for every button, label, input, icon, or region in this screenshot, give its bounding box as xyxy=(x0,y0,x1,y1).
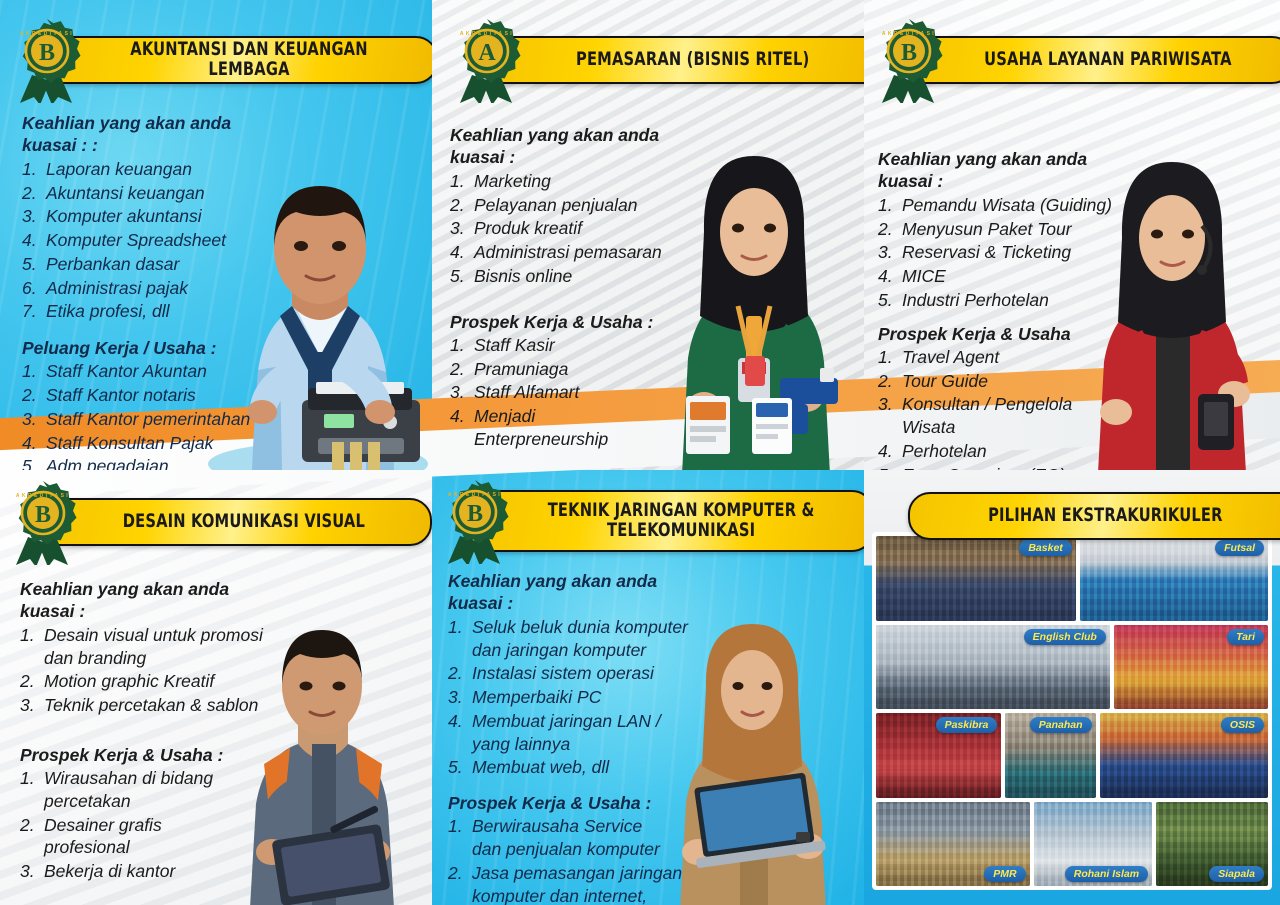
ekskul-label: Siapala xyxy=(1209,866,1264,882)
list-item: 2.Akuntansi keuangan xyxy=(22,182,272,205)
prospects-list: 1.Staff Kasir 2.Pramuniaga 3.Staff Alfam… xyxy=(450,334,690,451)
skills-heading: Keahlian yang akan anda kuasai : xyxy=(20,578,286,623)
accreditation-seal-icon: B AKREDITASI xyxy=(872,17,946,103)
list-item: 4.Komputer Spreadsheet xyxy=(22,229,272,252)
header-ekstrakurikuler: PILIHAN EKSTRAKURIKULER xyxy=(908,492,1280,540)
panel-title-tjkt: TEKNIK JARINGAN KOMPUTER & TELEKOMUNIKAS… xyxy=(468,490,864,552)
content-dkv: Keahlian yang akan anda kuasai : 1.Desai… xyxy=(20,578,286,884)
list-item: 3.Komputer akuntansi xyxy=(22,205,272,228)
ekskul-cell-rohani-islam[interactable]: Rohani Islam xyxy=(1034,802,1153,887)
prospects-list: 1.Wirausahan di bidang percetakan 2.Desa… xyxy=(20,767,286,883)
list-item: 5.Perbankan dasar xyxy=(22,253,272,276)
skills-heading: Keahlian yang akan anda kuasai : xyxy=(448,570,708,615)
list-item: 3.Konsultan / Pengelola Wisata xyxy=(878,393,1122,439)
skills-list: 1.Marketing 2.Pelayanan penjualan 3.Prod… xyxy=(450,170,690,288)
list-item: 3.Memperbaiki PC xyxy=(448,686,708,709)
seal-grade-letter: B xyxy=(39,40,55,66)
list-item: 2.Motion graphic Kreatif xyxy=(20,670,286,693)
list-item: 4.Staff Konsultan Pajak xyxy=(22,432,272,455)
ekskul-cell-pmr[interactable]: PMR xyxy=(876,802,1030,887)
content-tjkt: Keahlian yang akan anda kuasai : 1.Seluk… xyxy=(448,570,708,905)
header-akuntansi: B AKREDITASI AKUNTANSI DAN KEUANGAN LEMB… xyxy=(12,36,432,84)
list-item: 2.Pramuniaga xyxy=(450,358,690,381)
content-pariwisata: Keahlian yang akan anda kuasai : 1.Peman… xyxy=(878,148,1122,470)
panel-title-text: USAHA LAYANAN PARIWISATA xyxy=(984,50,1232,70)
ekskul-cell-panahan[interactable]: Panahan xyxy=(1005,713,1095,798)
prospects-list: 1.Staff Kantor Akuntan 2.Staff Kantor no… xyxy=(22,360,272,470)
list-item: 4.Administrasi pemasaran xyxy=(450,241,690,264)
prospects-list: 1.Berwirausaha Service dan penjualan kom… xyxy=(448,815,708,905)
panel-title-pemasaran: PEMASARAN (BISNIS RITEL) xyxy=(480,36,864,84)
panel-dkv: B AKREDITASI DESAIN KOMUNIKASI VISUAL Ke… xyxy=(0,470,432,905)
seal-grade-letter: B xyxy=(35,502,51,528)
skills-heading: Keahlian yang akan anda kuasai : xyxy=(450,124,690,169)
list-item: 2.Staff Kantor notaris xyxy=(22,384,272,407)
list-item: 5.Adm pegadaian xyxy=(22,455,272,470)
ekskul-cell-siapala[interactable]: Siapala xyxy=(1156,802,1268,887)
ekskul-cell-futsal[interactable]: Futsal xyxy=(1080,536,1268,621)
seal-ring-text: AKREDITASI xyxy=(882,31,936,37)
prospects-heading: Prospek Kerja & Usaha : xyxy=(20,744,286,766)
seal-ring-text: AKREDITASI xyxy=(20,31,74,37)
list-item: 2.Tour Guide xyxy=(878,370,1122,393)
ekskul-cell-paskibra[interactable]: Paskibra xyxy=(876,713,1001,798)
seal-ring-text: AKREDITASI xyxy=(16,493,70,499)
ekskul-label: Panahan xyxy=(1030,717,1092,733)
seal-ring-text: AKREDITASI xyxy=(448,492,502,498)
ekskul-row: English Club Tari xyxy=(876,625,1268,710)
list-item: 3.Staff Kantor pemerintahan xyxy=(22,408,272,431)
prospects-heading: Peluang Kerja / Usaha : xyxy=(22,337,272,359)
list-item: 2.Desainer grafis profesional xyxy=(20,814,286,860)
prospects-heading: Prospek Kerja & Usaha : xyxy=(448,792,708,814)
header-dkv: B AKREDITASI DESAIN KOMUNIKASI VISUAL xyxy=(8,498,432,546)
list-item: 3.Teknik percetakan & sablon xyxy=(20,694,286,717)
list-item: 4.Membuat jaringan LAN / yang lainnya xyxy=(448,710,708,756)
ekskul-label: PMR xyxy=(984,866,1025,882)
list-item: 3.Produk kreatif xyxy=(450,217,690,240)
list-item: 1.Laporan keuangan xyxy=(22,158,272,181)
list-item: 2.Menyusun Paket Tour xyxy=(878,218,1122,241)
seal-grade-letter: A xyxy=(478,40,496,66)
content-pemasaran: Keahlian yang akan anda kuasai : 1.Marke… xyxy=(450,124,690,452)
accreditation-seal-icon: A AKREDITASI xyxy=(450,17,524,103)
content-akuntansi: Keahlian yang akan anda kuasai : : 1.Lap… xyxy=(22,112,272,470)
skills-list: 1.Laporan keuangan 2.Akuntansi keuangan … xyxy=(22,158,272,323)
panel-title-text: AKUNTANSI DAN KEUANGAN LEMBAGA xyxy=(111,40,388,80)
header-tjkt: B AKREDITASI TEKNIK JARINGAN KOMPUTER & … xyxy=(440,490,864,552)
accreditation-seal-icon: B AKREDITASI xyxy=(10,17,84,103)
ekskul-row: Paskibra Panahan OSIS xyxy=(876,713,1268,798)
list-item: 1.Staff Kantor Akuntan xyxy=(22,360,272,383)
accreditation-seal-icon: B AKREDITASI xyxy=(438,478,512,564)
accreditation-seal-icon: B AKREDITASI xyxy=(6,479,80,565)
panel-title-akuntansi: AKUNTANSI DAN KEUANGAN LEMBAGA xyxy=(40,36,432,84)
list-item: 2.Instalasi sistem operasi xyxy=(448,662,708,685)
list-item: 5.Industri Perhotelan xyxy=(878,289,1122,312)
list-item: 2.Pelayanan penjualan xyxy=(450,194,690,217)
list-item: 1.Seluk beluk dunia komputer dan jaringa… xyxy=(448,616,708,662)
list-item: 1.Desain visual untuk promosi dan brandi… xyxy=(20,624,286,670)
skills-list: 1.Desain visual untuk promosi dan brandi… xyxy=(20,624,286,717)
prospects-heading: Prospek Kerja & Usaha : xyxy=(450,311,690,333)
seal-grade-letter: B xyxy=(467,501,483,527)
ekskul-photo-grid: Basket Futsal English Club Tari Paskibra xyxy=(872,532,1272,890)
list-item: 1.Wirausahan di bidang percetakan xyxy=(20,767,286,813)
ekskul-label: Rohani Islam xyxy=(1065,866,1148,882)
header-pariwisata: B AKREDITASI USAHA LAYANAN PARIWISATA xyxy=(874,36,1280,84)
skills-heading: Keahlian yang akan anda kuasai : : xyxy=(22,112,272,157)
list-item: 5.Membuat web, dll xyxy=(448,756,708,779)
ekskul-cell-tari[interactable]: Tari xyxy=(1114,625,1268,710)
list-item: 5.Even Organizer (EO) xyxy=(878,464,1122,470)
header-pemasaran-inner: A AKREDITASI PEMASARAN (BISNIS RITEL) xyxy=(452,36,864,84)
panel-title-text: PEMASARAN (BISNIS RITEL) xyxy=(576,50,809,70)
list-item: 4.Menjadi Enterpreneurship xyxy=(450,405,690,451)
ekskul-cell-basket[interactable]: Basket xyxy=(876,536,1076,621)
list-item: 6.Administrasi pajak xyxy=(22,277,272,300)
seal-ring-text: AKREDITASI xyxy=(460,31,514,37)
skills-heading: Keahlian yang akan anda kuasai : xyxy=(878,148,1122,193)
ekskul-row: Basket Futsal xyxy=(876,536,1268,621)
ekskul-cell-osis[interactable]: OSIS xyxy=(1100,713,1268,798)
list-item: 1.Staff Kasir xyxy=(450,334,690,357)
list-item: 1.Pemandu Wisata (Guiding) xyxy=(878,194,1122,217)
panel-title-dkv: DESAIN KOMUNIKASI VISUAL xyxy=(36,498,432,546)
panel-tjkt: B AKREDITASI TEKNIK JARINGAN KOMPUTER & … xyxy=(432,470,864,905)
panel-title-text: TEKNIK JARINGAN KOMPUTER & TELEKOMUNIKAS… xyxy=(548,501,815,541)
list-item: 4.Perhotelan xyxy=(878,440,1122,463)
prospects-heading: Prospek Kerja & Usaha xyxy=(878,323,1122,345)
list-item: 1.Berwirausaha Service dan penjualan kom… xyxy=(448,815,708,861)
list-item: 3.Reservasi & Ticketing xyxy=(878,241,1122,264)
list-item: 5.Bisnis online xyxy=(450,265,690,288)
ekskul-row: PMR Rohani Islam Siapala xyxy=(876,802,1268,887)
ekskul-label: Tari xyxy=(1227,629,1264,645)
list-item: 2.Jasa pemasangan jaringan komputer dan … xyxy=(448,862,708,905)
panel-pemasaran: A AKREDITASI PEMASARAN (BISNIS RITEL) Ke… xyxy=(432,0,864,470)
panel-title-ekstrakurikuler: PILIHAN EKSTRAKURIKULER xyxy=(908,492,1280,540)
panel-pariwisata: B AKREDITASI USAHA LAYANAN PARIWISATA Ke… xyxy=(864,0,1280,470)
ekskul-label: OSIS xyxy=(1221,717,1264,733)
panel-title-text: PILIHAN EKSTRAKURIKULER xyxy=(988,506,1222,526)
panel-akuntansi: B AKREDITASI AKUNTANSI DAN KEUANGAN LEMB… xyxy=(0,0,432,470)
ekskul-label: Paskibra xyxy=(936,717,998,733)
ekskul-label: Futsal xyxy=(1215,540,1264,556)
list-item: 3.Staff Alfamart xyxy=(450,381,690,404)
list-item: 1.Travel Agent xyxy=(878,346,1122,369)
ekskul-cell-english-club[interactable]: English Club xyxy=(876,625,1110,710)
list-item: 7.Etika profesi, dll xyxy=(22,300,272,323)
list-item: 1.Marketing xyxy=(450,170,690,193)
ekskul-label: Basket xyxy=(1019,540,1071,556)
list-item: 3.Bekerja di kantor xyxy=(20,860,286,883)
panel-title-text: DESAIN KOMUNIKASI VISUAL xyxy=(123,512,365,532)
panel-title-pariwisata: USAHA LAYANAN PARIWISATA xyxy=(902,36,1280,84)
ekskul-label: English Club xyxy=(1024,629,1106,645)
skills-list: 1.Seluk beluk dunia komputer dan jaringa… xyxy=(448,616,708,779)
brochure-page: B AKREDITASI AKUNTANSI DAN KEUANGAN LEMB… xyxy=(0,0,1280,905)
skills-list: 1.Pemandu Wisata (Guiding) 2.Menyusun Pa… xyxy=(878,194,1122,312)
seal-grade-letter: B xyxy=(901,40,917,66)
list-item: 4.MICE xyxy=(878,265,1122,288)
prospects-list: 1.Travel Agent 2.Tour Guide 3.Konsultan … xyxy=(878,346,1122,470)
